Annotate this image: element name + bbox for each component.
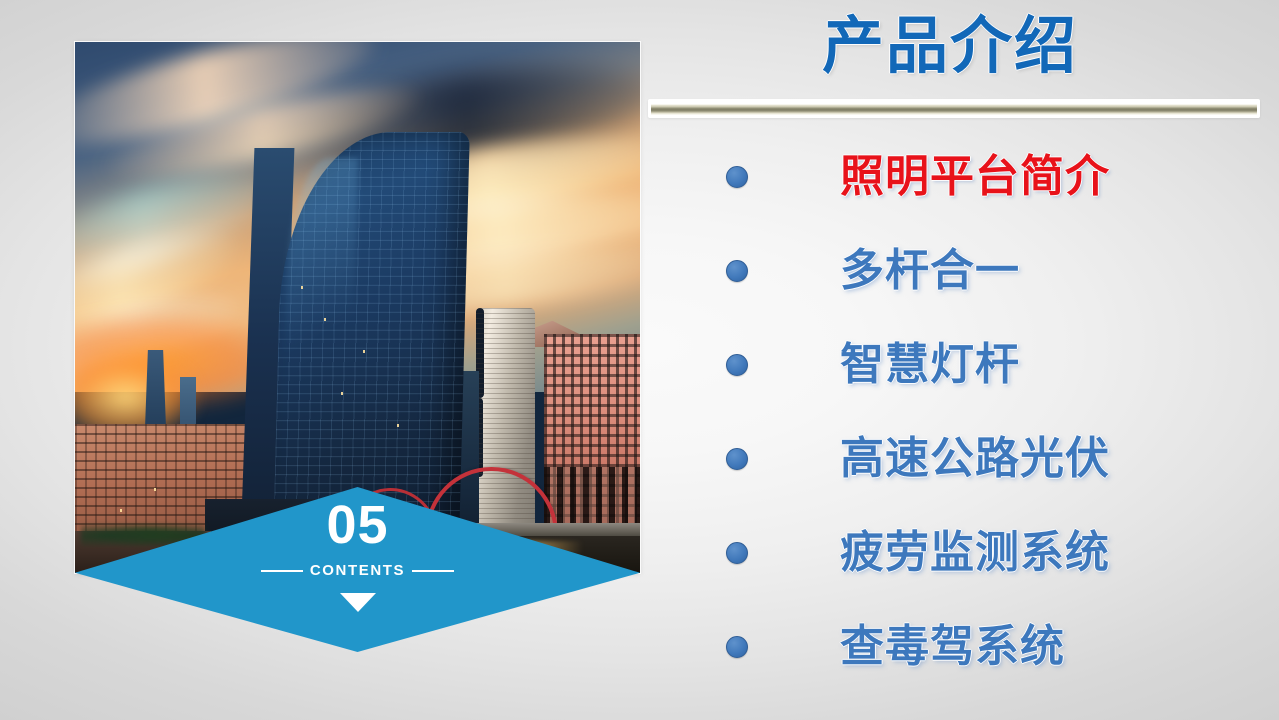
contents-badge: 05 CONTENTS (75, 487, 640, 652)
triangle-down-icon (340, 593, 376, 612)
list-item-label: 智慧灯杆 (840, 343, 1020, 387)
list-item-label: 多杆合一 (840, 249, 1020, 293)
bullet-dot-icon (726, 636, 748, 658)
rule-right (412, 570, 454, 572)
bullet-dot-icon (726, 354, 748, 376)
badge-contents-label: CONTENTS (310, 563, 405, 578)
badge-number: 05 (75, 498, 640, 552)
list-item[interactable]: 高速公路光伏 (648, 412, 1268, 506)
bullet-dot-icon (726, 260, 748, 282)
presentation-slide: 05 CONTENTS 产品介绍 照明平台简介 多杆合一 智慧灯杆 高速公路光伏 (0, 0, 1279, 720)
rule-left (261, 570, 303, 572)
list-item-label: 查毒驾系统 (840, 625, 1065, 669)
list-item[interactable]: 智慧灯杆 (648, 318, 1268, 412)
bullet-dot-icon (726, 448, 748, 470)
list-item-label: 照明平台简介 (840, 155, 1110, 199)
bullet-list: 照明平台简介 多杆合一 智慧灯杆 高速公路光伏 疲劳监测系统 查毒驾系统 (648, 130, 1268, 694)
window-light (324, 318, 326, 321)
window-light (397, 424, 399, 427)
list-item[interactable]: 疲劳监测系统 (648, 506, 1268, 600)
badge-contents-row: CONTENTS (75, 563, 640, 578)
page-title: 产品介绍 (640, 8, 1260, 86)
bullet-dot-icon (726, 166, 748, 188)
window-light (341, 392, 343, 395)
list-item-label: 疲劳监测系统 (840, 531, 1110, 575)
window-light (363, 350, 365, 353)
list-item[interactable]: 查毒驾系统 (648, 600, 1268, 694)
bullet-dot-icon (726, 542, 748, 564)
list-item-label: 高速公路光伏 (840, 437, 1110, 481)
title-divider (648, 99, 1260, 118)
list-item[interactable]: 照明平台简介 (648, 130, 1268, 224)
window-light (301, 286, 303, 289)
list-item[interactable]: 多杆合一 (648, 224, 1268, 318)
